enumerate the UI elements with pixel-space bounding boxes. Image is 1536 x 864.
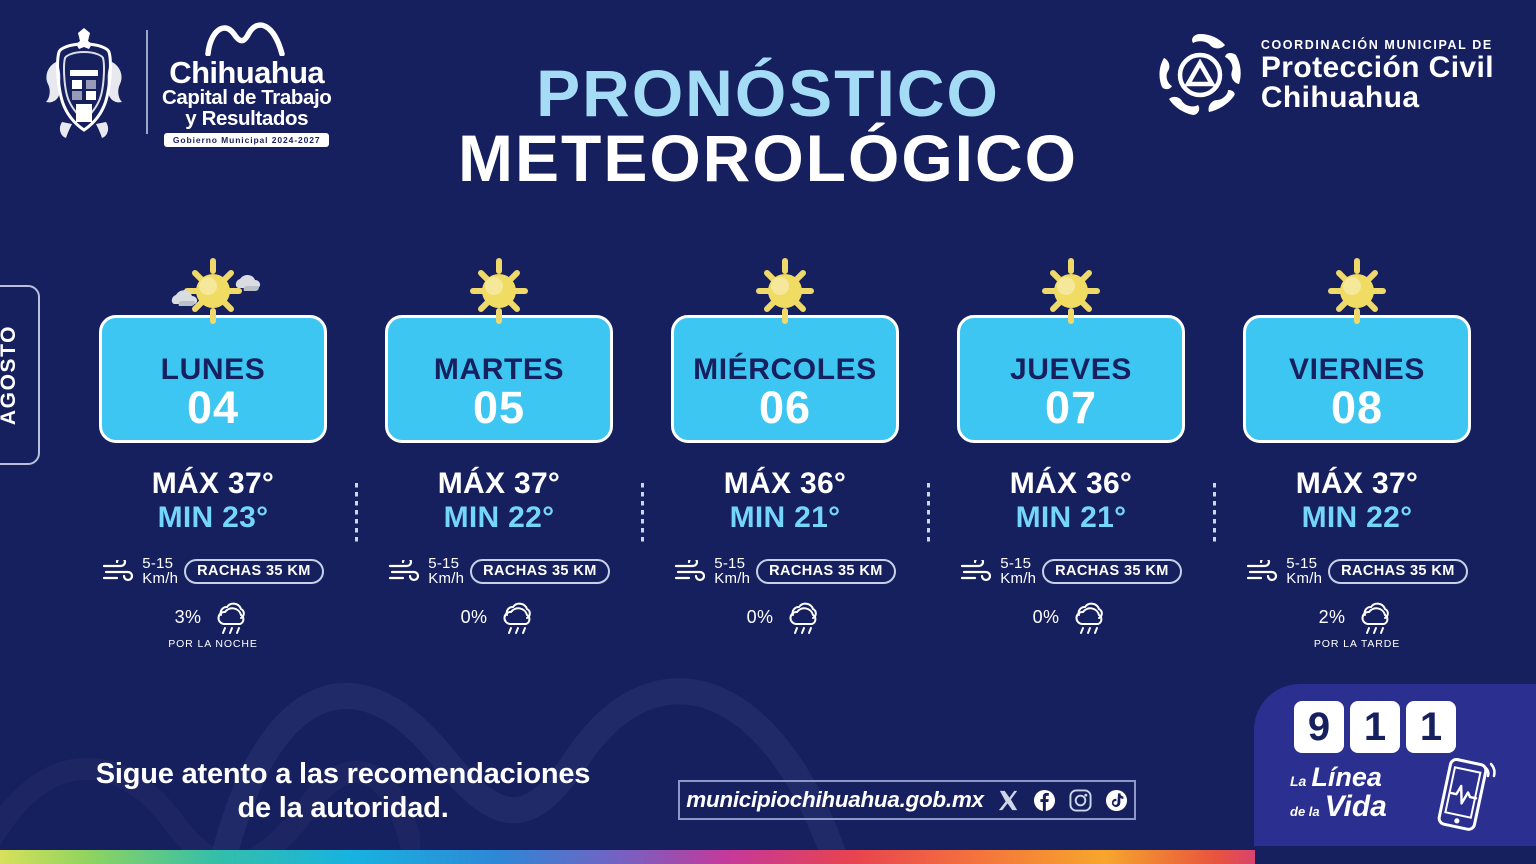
rain-info: 0% (461, 601, 538, 635)
footer-message-line-1: Sigue atento a las recomendaciones (48, 757, 638, 791)
weather-icon-sun-with-clouds (154, 255, 272, 327)
wind-info: 5-15 Km/h RACHAS 35 KM (960, 556, 1181, 587)
civil-protection-logo: COORDINACIÓN MUNICIPAL DE Protección Civ… (1155, 30, 1494, 120)
wind-speed-unit: Km/h (428, 571, 464, 586)
wind-icon (674, 560, 708, 582)
rainbow-strip (0, 850, 1255, 864)
wind-info: 5-15 Km/h RACHAS 35 KM (102, 556, 323, 587)
civil-protection-line-2: Chihuahua (1261, 83, 1494, 113)
wind-speed-unit: Km/h (1000, 571, 1036, 586)
wind-speed: 5-15 Km/h (1000, 556, 1036, 587)
wind-speed-value: 5-15 (714, 556, 750, 571)
footer-message-line-2: de la autoridad. (48, 791, 638, 825)
wind-gusts-badge: RACHAS 35 KM (184, 559, 324, 585)
day-card[interactable]: JUEVES 07 (957, 315, 1185, 443)
month-tab: AGOSTO (0, 285, 40, 465)
wind-speed-unit: Km/h (142, 571, 178, 586)
forecast-days: LUNES 04 MÁX 37° MIN 23° 5-15 Km/h RACHA… (70, 255, 1500, 650)
forecast-day-card[interactable]: VIERNES 08 MÁX 37° MIN 22° 5-15 Km/h RAC… (1214, 255, 1500, 650)
temperatures: MÁX 37° MIN 22° (438, 467, 560, 534)
rain-info: 0% (747, 601, 824, 635)
temp-max: MÁX 36° (724, 467, 846, 501)
day-number: 07 (1045, 385, 1097, 432)
wind-icon (960, 560, 994, 582)
temperatures: MÁX 37° MIN 22° (1296, 467, 1418, 534)
wind-speed-unit: Km/h (714, 571, 750, 586)
day-name: LUNES (161, 355, 266, 385)
digit-1-b: 1 (1406, 701, 1456, 753)
day-number: 04 (187, 385, 239, 432)
rain-cloud-icon (781, 601, 823, 635)
wind-gusts-badge: RACHAS 35 KM (756, 559, 896, 585)
rain-cloud-icon (495, 601, 537, 635)
day-name: JUEVES (1010, 355, 1132, 385)
wind-gusts-badge: RACHAS 35 KM (470, 559, 610, 585)
day-card[interactable]: MIÉRCOLES 06 (671, 315, 899, 443)
rain-time: POR LA NOCHE (168, 638, 258, 650)
wind-icon (1246, 560, 1280, 582)
day-number: 05 (473, 385, 525, 432)
temperatures: MÁX 37° MIN 23° (152, 467, 274, 534)
day-name: VIERNES (1289, 355, 1425, 385)
wind-speed: 5-15 Km/h (142, 556, 178, 587)
slogan-vida: Vida (1325, 790, 1387, 824)
911-digits: 9 1 1 (1294, 701, 1456, 753)
temp-min: MIN 21° (724, 501, 846, 535)
temp-max: MÁX 36° (1010, 467, 1132, 501)
temp-max: MÁX 37° (1296, 467, 1418, 501)
wind-speed: 5-15 Km/h (428, 556, 464, 587)
facebook-icon[interactable] (1033, 789, 1056, 812)
rain-probability: 3% (175, 607, 202, 628)
phone-heartbeat-icon (1432, 756, 1498, 838)
temp-max: MÁX 37° (438, 467, 560, 501)
wind-gusts-badge: RACHAS 35 KM (1328, 559, 1468, 585)
background-mountain-watermark (200, 634, 920, 864)
wind-icon (102, 560, 136, 582)
rain-info: 2% (1319, 601, 1396, 635)
day-card[interactable]: MARTES 05 (385, 315, 613, 443)
day-name: MARTES (434, 355, 564, 385)
rain-info: 0% (1033, 601, 1110, 635)
wind-speed-value: 5-15 (1000, 556, 1036, 571)
temperatures: MÁX 36° MIN 21° (724, 467, 846, 534)
header: Chihuahua Capital de Trabajo y Resultado… (0, 0, 1536, 220)
day-number: 06 (759, 385, 811, 432)
wind-gusts-badge: RACHAS 35 KM (1042, 559, 1182, 585)
wind-speed-value: 5-15 (1286, 556, 1322, 571)
temp-min: MIN 23° (152, 501, 274, 535)
rain-probability: 0% (1033, 607, 1060, 628)
forecast-day-card[interactable]: LUNES 04 MÁX 37° MIN 23° 5-15 Km/h RACHA… (70, 255, 356, 650)
website-bar[interactable]: municipiochihuahua.gob.mx (678, 780, 1136, 820)
day-card[interactable]: VIERNES 08 (1243, 315, 1471, 443)
wind-speed-value: 5-15 (142, 556, 178, 571)
wind-speed-value: 5-15 (428, 556, 464, 571)
footer-message: Sigue atento a las recomendaciones de la… (48, 757, 638, 825)
slogan-dela: de la (1290, 804, 1320, 819)
forecast-day-card[interactable]: JUEVES 07 MÁX 36° MIN 21° 5-15 Km/h RACH… (928, 255, 1214, 650)
temp-min: MIN 22° (1296, 501, 1418, 535)
rain-time: POR LA TARDE (1314, 638, 1400, 650)
emergency-911-badge: 9 1 1 La Línea de la Vida (1254, 684, 1536, 846)
slogan-la: La (1290, 773, 1306, 789)
digit-9: 9 (1294, 701, 1344, 753)
rain-info: 3% (175, 601, 252, 635)
civil-protection-line-1: Protección Civil (1261, 53, 1494, 83)
temp-max: MÁX 37° (152, 467, 274, 501)
day-name: MIÉRCOLES (693, 355, 877, 385)
forecast-day-card[interactable]: MARTES 05 MÁX 37° MIN 22° 5-15 Km/h RACH… (356, 255, 642, 650)
instagram-icon[interactable] (1069, 789, 1092, 812)
rain-cloud-icon (1353, 601, 1395, 635)
website-url[interactable]: municipiochihuahua.gob.mx (686, 787, 984, 813)
wind-icon (388, 560, 422, 582)
wind-info: 5-15 Km/h RACHAS 35 KM (674, 556, 895, 587)
rain-probability: 0% (461, 607, 488, 628)
title-line-2: METEOROLÓGICO (0, 125, 1536, 191)
rain-cloud-icon (1067, 601, 1109, 635)
digit-1-a: 1 (1350, 701, 1400, 753)
tiktok-icon[interactable] (1105, 789, 1128, 812)
911-slogan: La Línea de la Vida (1290, 762, 1450, 824)
x-icon[interactable] (997, 789, 1020, 812)
civil-protection-eyebrow: COORDINACIÓN MUNICIPAL DE (1261, 38, 1494, 52)
day-card[interactable]: LUNES 04 (99, 315, 327, 443)
rain-probability: 2% (1319, 607, 1346, 628)
weather-icon-sun (453, 255, 545, 327)
day-number: 08 (1331, 385, 1383, 432)
civil-protection-icon (1155, 30, 1245, 120)
wind-speed: 5-15 Km/h (714, 556, 750, 587)
weather-icon-sun (739, 255, 831, 327)
temp-min: MIN 22° (438, 501, 560, 535)
temperatures: MÁX 36° MIN 21° (1010, 467, 1132, 534)
slogan-linea: Línea (1311, 762, 1382, 793)
forecast-day-card[interactable]: MIÉRCOLES 06 MÁX 36° MIN 21° 5-15 Km/h R… (642, 255, 928, 650)
weather-icon-sun (1311, 255, 1403, 327)
weather-icon-sun (1025, 255, 1117, 327)
wind-speed-unit: Km/h (1286, 571, 1322, 586)
wind-info: 5-15 Km/h RACHAS 35 KM (388, 556, 609, 587)
month-label: AGOSTO (0, 325, 21, 425)
wind-speed: 5-15 Km/h (1286, 556, 1322, 587)
temp-min: MIN 21° (1010, 501, 1132, 535)
rain-probability: 0% (747, 607, 774, 628)
rain-cloud-icon (209, 601, 251, 635)
mountain-logo-icon (204, 18, 290, 56)
wind-info: 5-15 Km/h RACHAS 35 KM (1246, 556, 1467, 587)
